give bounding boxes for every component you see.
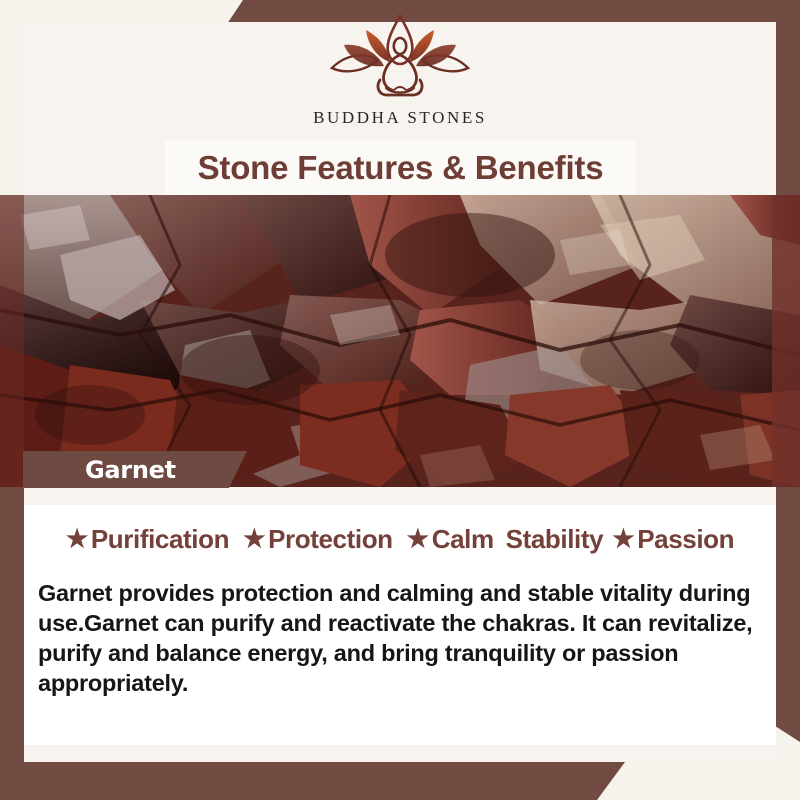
stone-photo bbox=[0, 195, 800, 487]
stone-description: Garnet provides protection and calming a… bbox=[38, 578, 754, 698]
star-icon: ★ bbox=[243, 527, 265, 552]
benefit-label: Passion bbox=[637, 524, 734, 555]
infographic-page: BUDDHA STONES Stone Features & Benefits bbox=[0, 0, 800, 800]
stone-name: Garnet bbox=[23, 456, 176, 484]
decor-bottom-bar bbox=[0, 762, 625, 800]
benefit-label: Purification bbox=[91, 524, 229, 555]
benefit-item-stability: Stability bbox=[506, 524, 604, 555]
page-title: Stone Features & Benefits bbox=[198, 149, 604, 187]
stone-name-banner: Garnet bbox=[23, 451, 247, 488]
benefit-item-calm: ★ Calm bbox=[407, 524, 494, 555]
brand-logo: BUDDHA STONES bbox=[0, 10, 800, 128]
benefit-label: Calm bbox=[432, 524, 494, 555]
star-icon: ★ bbox=[66, 527, 88, 552]
brand-name: BUDDHA STONES bbox=[313, 108, 487, 128]
star-icon: ★ bbox=[612, 527, 634, 552]
lotus-meditation-icon bbox=[320, 10, 480, 102]
benefits-list: ★ Purification ★ Protection ★ Calm Stabi… bbox=[24, 524, 776, 555]
benefit-item-purification: ★ Purification bbox=[66, 524, 229, 555]
benefit-item-passion: ★ Passion bbox=[612, 524, 734, 555]
page-title-panel: Stone Features & Benefits bbox=[165, 141, 636, 195]
benefit-item-protection: ★ Protection bbox=[243, 524, 393, 555]
benefit-label: Stability bbox=[506, 524, 604, 555]
star-icon: ★ bbox=[407, 527, 429, 552]
benefit-label: Protection bbox=[268, 524, 393, 555]
